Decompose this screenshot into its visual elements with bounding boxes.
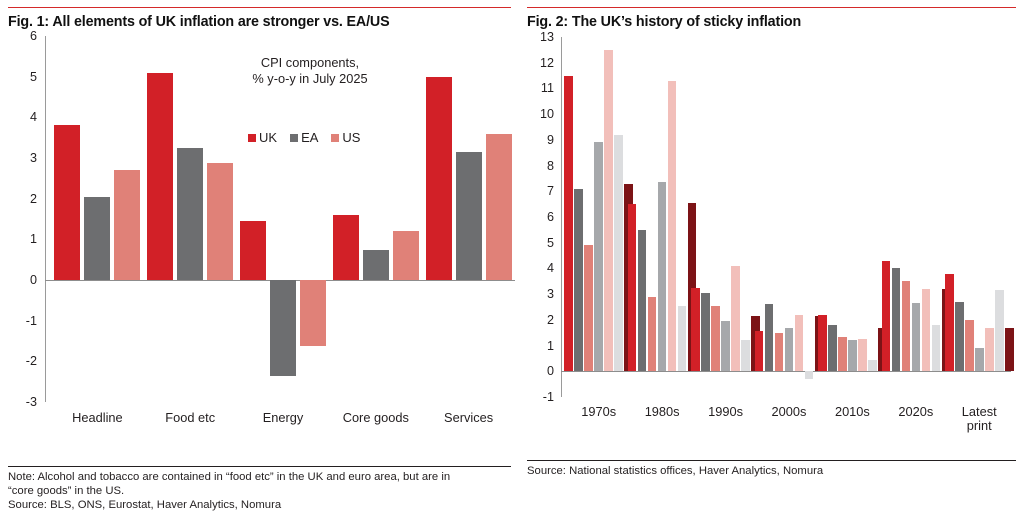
bar-us-2010s <box>828 325 837 371</box>
y-axis-tick-label: 2 <box>522 313 554 327</box>
bar-ita-2010s <box>858 339 867 371</box>
y-axis-tick-label: -3 <box>5 395 37 409</box>
y-axis-tick-label: -2 <box>5 354 37 368</box>
figure-1-footnote: Note: Alcohol and tobacco are contained … <box>8 466 511 513</box>
y-axis-tick-label: 13 <box>522 30 554 44</box>
x-axis-labels: HeadlineFood etcEnergyCore goodsServices <box>51 411 515 425</box>
bar-ita-1970s <box>604 50 613 371</box>
x-axis-label: Food etc <box>144 411 237 425</box>
y-axis-tick-label: 6 <box>5 29 37 43</box>
figure-1-note: Note: Alcohol and tobacco are contained … <box>8 470 511 498</box>
bar-jpn-2010s <box>868 360 877 372</box>
bar-jpn-1970s <box>614 135 623 372</box>
y-axis-tick-label: 1 <box>522 339 554 353</box>
bar-uk-energy <box>240 221 266 280</box>
bar-fra-1990s <box>721 321 730 371</box>
x-axis-label: Headline <box>51 411 144 425</box>
x-axis-label: 1980s <box>630 405 693 434</box>
y-axis-tick-label: 11 <box>522 81 554 95</box>
bar-us-services <box>486 134 512 280</box>
bar-uk-core-goods <box>333 215 359 280</box>
bar-ger-1980s <box>648 297 657 372</box>
bar-ita-1980s <box>668 81 677 372</box>
y-axis-tick-label: 7 <box>522 184 554 198</box>
y-axis-tick-label: 8 <box>522 159 554 173</box>
bar-ea-headline <box>84 197 110 280</box>
bar-us-latest-print <box>955 302 964 371</box>
figure-1-source: Source: BLS, ONS, Eurostat, Haver Analyt… <box>8 498 511 512</box>
y-axis-tick-label: 4 <box>522 261 554 275</box>
figure-1-title: Fig. 1: All elements of UK inflation are… <box>0 8 519 30</box>
bar-ea-energy <box>270 280 296 376</box>
bar-ea-core-goods <box>363 250 389 281</box>
legend-label: US <box>342 130 360 145</box>
bar-uk-2010s <box>818 315 827 372</box>
bar-uk-2020s <box>882 261 891 372</box>
x-axis-label: Latest print <box>948 405 1011 434</box>
bar-us-2020s <box>892 268 901 371</box>
figure-1-annotation: CPI components, % y-o-y in July 2025 <box>200 55 420 86</box>
bar-us-2000s <box>765 304 774 371</box>
x-axis-labels: 1970s1980s1990s2000s2010s2020sLatest pri… <box>567 405 1011 434</box>
legend-swatch-icon <box>331 134 339 142</box>
y-axis-tick-label: 0 <box>5 273 37 287</box>
bar-uk-1980s <box>628 204 637 371</box>
bar-ger-2020s <box>902 281 911 371</box>
bar-jpn-1990s <box>741 340 750 371</box>
bar-us-food-etc <box>207 163 233 280</box>
bar-us-1990s <box>701 293 710 371</box>
bar-ita-1990s <box>731 266 740 371</box>
y-axis-tick-label: 12 <box>522 56 554 70</box>
legend-item-ea[interactable]: EA <box>290 130 318 145</box>
bar-uk-services <box>426 77 452 280</box>
y-axis-tick-label: 10 <box>522 107 554 121</box>
bar-ea-services <box>456 152 482 280</box>
figure-2-panel: Fig. 2: The UK’s history of sticky infla… <box>519 0 1024 522</box>
bar-uk-1970s <box>564 76 573 372</box>
y-axis-tick-label: 3 <box>522 287 554 301</box>
figure-2-footnote: Source: National statistics offices, Hav… <box>527 460 1016 478</box>
bar-jpn-1980s <box>678 306 687 372</box>
x-axis-label: Core goods <box>329 411 422 425</box>
bar-uk-1990s <box>691 288 700 372</box>
bar-ger-2000s <box>775 333 784 372</box>
y-axis-line <box>561 37 562 397</box>
bar-fra-2020s <box>912 303 921 371</box>
bar-us-headline <box>114 170 140 280</box>
bar-us-energy <box>300 280 326 346</box>
x-axis-label: Services <box>422 411 515 425</box>
x-axis-label: 1990s <box>694 405 757 434</box>
bar-uk-headline <box>54 125 80 280</box>
y-axis-tick-label: 2 <box>5 192 37 206</box>
bar-jpn-2000s <box>805 371 814 379</box>
bar-can-latest-print <box>1005 328 1014 372</box>
figure-1-legend: UKEAUS <box>248 130 438 145</box>
bar-ea-food-etc <box>177 148 203 280</box>
bar-uk-food-etc <box>147 73 173 280</box>
y-axis-tick-label: 4 <box>5 110 37 124</box>
figure-2-title: Fig. 2: The UK’s history of sticky infla… <box>519 8 1024 30</box>
figure-2-plot: 131211109876543210-11970s1980s1990s2000s… <box>519 37 1024 397</box>
bar-fra-2000s <box>785 328 794 372</box>
y-axis-tick-label: 9 <box>522 133 554 147</box>
x-axis-label: 2000s <box>757 405 820 434</box>
x-axis-label: 2010s <box>821 405 884 434</box>
legend-swatch-icon <box>248 134 256 142</box>
legend-row: UKEAUS <box>248 130 438 145</box>
legend-label: EA <box>301 130 318 145</box>
y-axis-tick-label: 6 <box>522 210 554 224</box>
bar-uk-2000s <box>755 331 764 371</box>
figure-1-plot: 6543210-1-2-3HeadlineFood etcEnergyCore … <box>0 36 519 402</box>
bar-ger-1990s <box>711 306 720 372</box>
y-axis-tick-label: 5 <box>522 236 554 250</box>
y-axis-tick-label: -1 <box>5 314 37 328</box>
y-axis-tick-label: 5 <box>5 70 37 84</box>
legend-item-us[interactable]: US <box>331 130 360 145</box>
bar-fra-2010s <box>848 340 857 371</box>
y-axis-tick-label: 3 <box>5 151 37 165</box>
bar-ita-2000s <box>795 315 804 372</box>
figure-1-panel: Fig. 1: All elements of UK inflation are… <box>0 0 519 522</box>
bar-us-core-goods <box>393 231 419 280</box>
bar-fra-1980s <box>658 182 667 371</box>
y-axis-tick-label: -1 <box>522 390 554 404</box>
bar-ita-2020s <box>922 289 931 371</box>
x-axis-label: 2020s <box>884 405 947 434</box>
bar-ita-latest-print <box>985 328 994 372</box>
zero-baseline <box>561 371 1011 372</box>
x-axis-label: 1970s <box>567 405 630 434</box>
bar-us-1980s <box>638 230 647 371</box>
legend-item-uk[interactable]: UK <box>248 130 277 145</box>
bar-ger-1970s <box>584 245 593 371</box>
bar-fra-latest-print <box>975 348 984 371</box>
bar-uk-latest-print <box>945 274 954 372</box>
y-axis-line <box>45 36 46 402</box>
bar-us-1970s <box>574 189 583 372</box>
legend-label: UK <box>259 130 277 145</box>
legend-swatch-icon <box>290 134 298 142</box>
bar-jpn-latest-print <box>995 290 1004 371</box>
bar-fra-1970s <box>594 142 603 371</box>
y-axis-tick-label: 1 <box>5 232 37 246</box>
bar-ger-2010s <box>838 337 847 372</box>
figures-page: Fig. 1: All elements of UK inflation are… <box>0 0 1024 522</box>
y-axis-tick-label: 0 <box>522 364 554 378</box>
bar-ger-latest-print <box>965 320 974 371</box>
figure-2-source: Source: National statistics offices, Hav… <box>527 464 1016 478</box>
x-axis-label: Energy <box>237 411 330 425</box>
bar-jpn-2020s <box>932 325 941 371</box>
